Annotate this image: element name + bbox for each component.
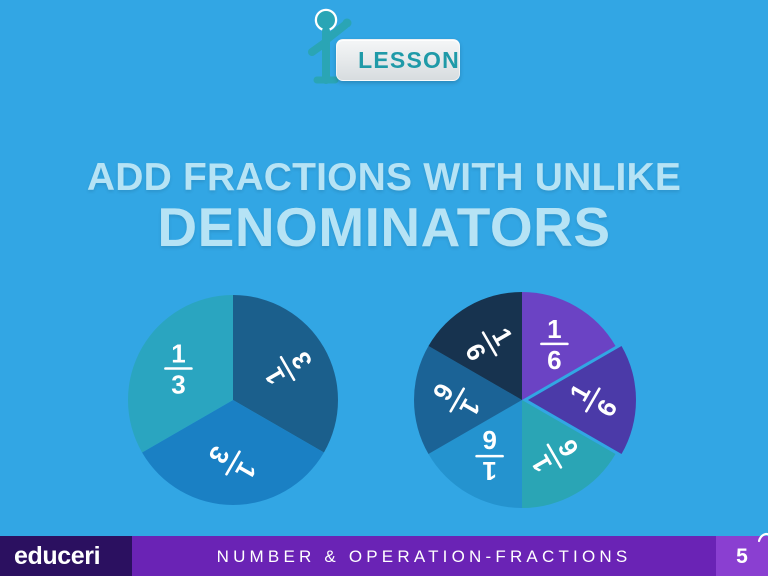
lesson-header: LESSON — [0, 8, 768, 94]
pie-thirds-svg: 131313 — [128, 288, 348, 513]
page-number: 5 — [736, 546, 748, 567]
pie-chart-sixths: 161616161616 — [410, 288, 646, 516]
brand-logo-text: educeri — [14, 544, 100, 569]
footer-subject-label: NUMBER & OPERATION-FRACTIONS — [217, 548, 632, 565]
pie-chart-thirds: 131313 — [128, 288, 348, 513]
lesson-badge-label: LESSON — [336, 49, 460, 72]
page-title: ADD FRACTIONS WITH UNLIKE DENOMINATORS — [0, 158, 768, 255]
title-line-1: ADD FRACTIONS WITH UNLIKE — [0, 158, 768, 197]
fraction-numerator: 1 — [482, 456, 496, 486]
logo-flourish-icon — [758, 532, 768, 544]
lesson-badge-group: LESSON — [304, 8, 464, 94]
footer-subject-cell: NUMBER & OPERATION-FRACTIONS — [132, 536, 716, 576]
fraction-numerator: 1 — [171, 339, 185, 369]
fraction-denominator: 6 — [482, 425, 496, 455]
pie-sixths-svg: 161616161616 — [410, 288, 646, 516]
lesson-slide: LESSON ADD FRACTIONS WITH UNLIKE DENOMIN… — [0, 0, 768, 576]
brand-logo[interactable]: educeri — [0, 536, 132, 576]
fraction-denominator: 3 — [171, 370, 185, 400]
title-line-2: DENOMINATORS — [0, 200, 768, 255]
footer-bar: educeri NUMBER & OPERATION-FRACTIONS 5 — [0, 536, 768, 576]
fraction-denominator: 6 — [547, 345, 561, 375]
lesson-badge[interactable]: LESSON — [336, 39, 460, 81]
fraction-numerator: 1 — [547, 314, 561, 344]
fraction-pie-charts: 131313 161616161616 — [0, 288, 768, 518]
